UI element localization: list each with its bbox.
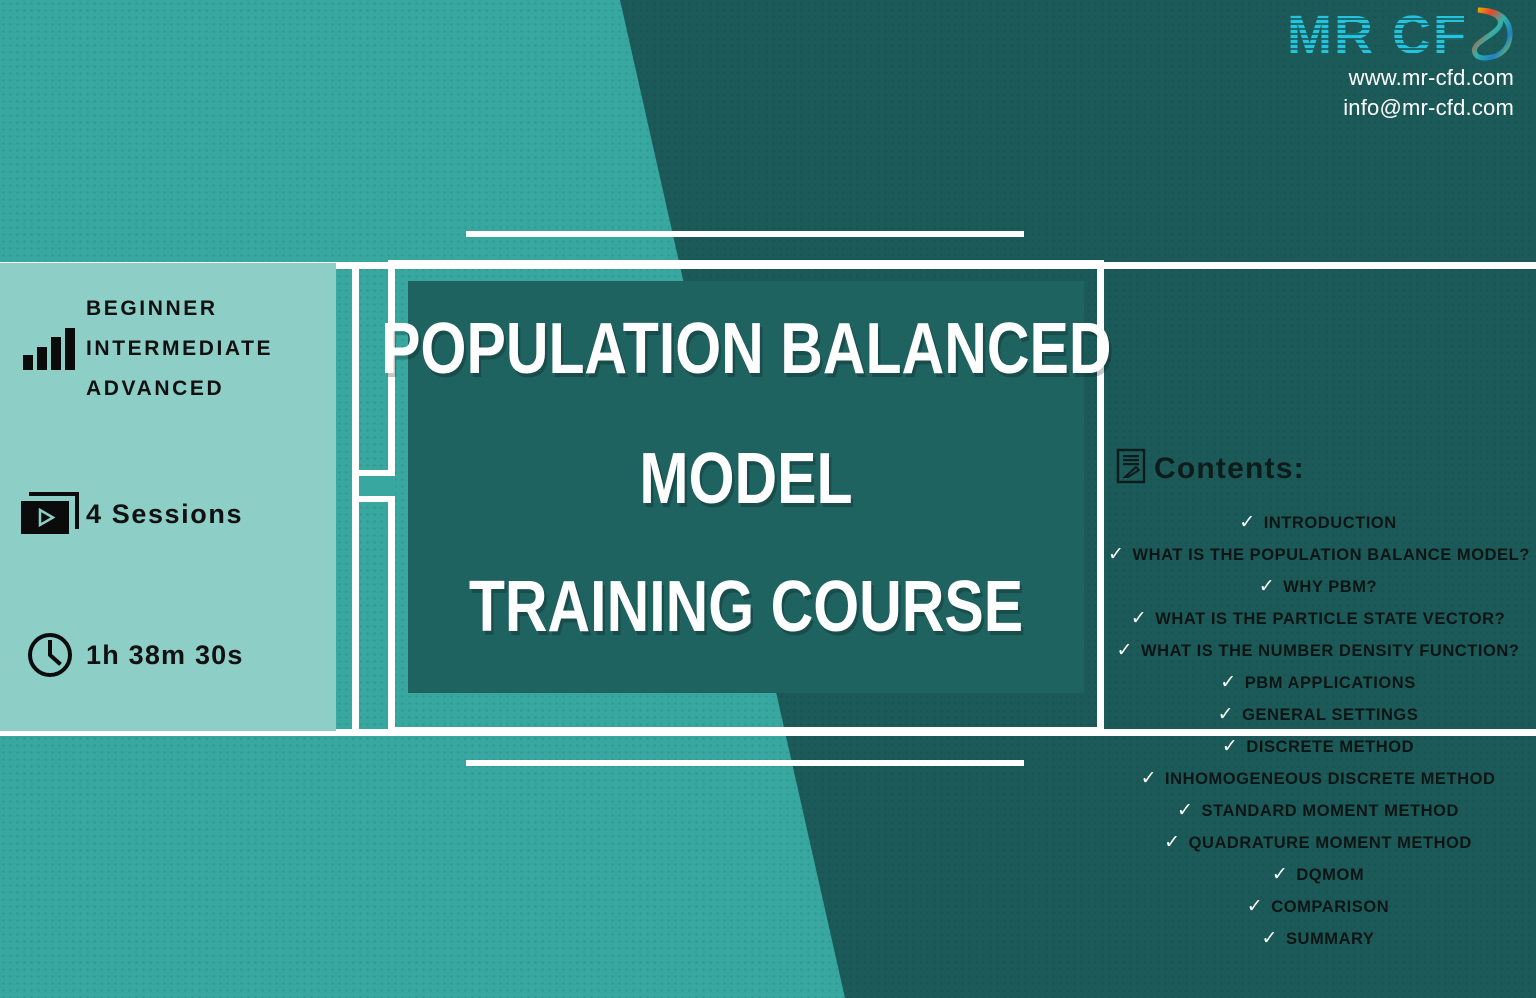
contents-list-item: ✓WHAT IS THE PARTICLE STATE VECTOR?	[1108, 603, 1528, 635]
course-info-panel: BEGINNER INTERMEDIATE ADVANCED 4 Session…	[0, 263, 336, 731]
decorative-rule-top-short	[466, 231, 1024, 237]
contents-list-item: ✓GENERAL SETTINGS	[1108, 699, 1528, 731]
brand-logo-text: MR CF	[1287, 8, 1468, 62]
brand-logo-block: MR CF www.mr-cfd.com info@mr-cfd.com	[1287, 4, 1514, 122]
contents-list-item: ✓WHY PBM?	[1108, 571, 1528, 603]
check-icon: ✓	[1131, 603, 1147, 635]
check-icon: ✓	[1247, 891, 1263, 923]
course-poster: BEGINNER INTERMEDIATE ADVANCED 4 Session…	[0, 0, 1536, 998]
contents-item-label: QUADRATURE MOMENT METHOD	[1189, 834, 1472, 852]
contents-list-item: ✓COMPARISON	[1108, 891, 1528, 923]
contents-item-label: COMPARISON	[1271, 898, 1389, 916]
course-title-box: POPULATION BALANCED MODEL TRAINING COURS…	[408, 281, 1084, 693]
sessions-label: 4 Sessions	[86, 499, 243, 530]
contents-item-label: WHY PBM?	[1283, 578, 1377, 596]
contents-list-item: ✓INHOMOGENEOUS DISCRETE METHOD	[1108, 763, 1528, 795]
contents-list-item: ✓INTRODUCTION	[1108, 507, 1528, 539]
brand-website: www.mr-cfd.com	[1287, 64, 1514, 92]
check-icon: ✓	[1262, 923, 1278, 955]
contents-heading-label: Contents:	[1154, 452, 1305, 486]
duration-label: 1h 38m 30s	[86, 640, 244, 671]
contents-list-item: ✓DQMOM	[1108, 859, 1528, 891]
panel-divider	[352, 263, 359, 731]
contents-item-label: PBM APPLICATIONS	[1245, 674, 1416, 692]
check-icon: ✓	[1239, 507, 1255, 539]
check-icon: ✓	[1222, 731, 1238, 763]
contents-item-label: DISCRETE METHOD	[1246, 738, 1414, 756]
decorative-rule-bottom-short	[466, 760, 1024, 766]
signal-bars-icon	[14, 327, 86, 371]
brand-logo-d-icon	[1470, 6, 1514, 62]
contents-item-label: GENERAL SETTINGS	[1242, 706, 1418, 724]
contents-list-item: ✓QUADRATURE MOMENT METHOD	[1108, 827, 1528, 859]
check-icon: ✓	[1108, 539, 1124, 571]
course-title-line-1: POPULATION BALANCED	[381, 307, 1111, 391]
contents-item-label: INHOMOGENEOUS DISCRETE METHOD	[1165, 770, 1495, 788]
brand-email: info@mr-cfd.com	[1287, 94, 1514, 122]
check-icon: ✓	[1259, 571, 1275, 603]
check-icon: ✓	[1141, 763, 1157, 795]
frame-notch-line-top	[359, 470, 395, 476]
check-icon: ✓	[1177, 795, 1193, 827]
contents-list-item: ✓WHAT IS THE POPULATION BALANCE MODEL?	[1108, 539, 1528, 571]
contents-list-item: ✓DISCRETE METHOD	[1108, 731, 1528, 763]
check-icon: ✓	[1164, 827, 1180, 859]
sessions-row: 4 Sessions	[14, 491, 334, 537]
level-intermediate: INTERMEDIATE	[86, 329, 273, 369]
contents-item-label: WHAT IS THE PARTICLE STATE VECTOR?	[1155, 610, 1505, 628]
contents-list-item: ✓WHAT IS THE NUMBER DENSITY FUNCTION?	[1108, 635, 1528, 667]
contents-heading: Contents:	[1116, 448, 1528, 489]
course-levels-labels: BEGINNER INTERMEDIATE ADVANCED	[86, 289, 273, 409]
frame-notch-line-bottom	[359, 496, 395, 502]
course-levels-row: BEGINNER INTERMEDIATE ADVANCED	[14, 289, 334, 409]
course-title-line-2: MODEL	[639, 437, 852, 521]
check-icon: ✓	[1117, 635, 1133, 667]
contents-item-label: DQMOM	[1296, 866, 1364, 884]
contents-list-item: ✓PBM APPLICATIONS	[1108, 667, 1528, 699]
contents-item-label: WHAT IS THE NUMBER DENSITY FUNCTION?	[1141, 642, 1520, 660]
video-playlist-icon	[14, 491, 86, 537]
contents-item-label: INTRODUCTION	[1264, 514, 1397, 532]
brand-logo-mark: MR CF	[1287, 4, 1514, 62]
check-icon: ✓	[1218, 699, 1234, 731]
contents-section: Contents: ✓INTRODUCTION✓WHAT IS THE POPU…	[1108, 448, 1528, 955]
contents-item-label: SUMMARY	[1286, 930, 1375, 948]
contents-list-item: ✓SUMMARY	[1108, 923, 1528, 955]
contents-list: ✓INTRODUCTION✓WHAT IS THE POPULATION BAL…	[1108, 507, 1528, 955]
frame-notch	[359, 476, 395, 496]
check-icon: ✓	[1220, 667, 1236, 699]
contents-item-label: STANDARD MOMENT METHOD	[1202, 802, 1459, 820]
level-advanced: ADVANCED	[86, 369, 273, 409]
document-pencil-icon	[1116, 448, 1146, 489]
clock-icon	[14, 631, 86, 679]
check-icon: ✓	[1272, 859, 1288, 891]
contents-item-label: WHAT IS THE POPULATION BALANCE MODEL?	[1132, 546, 1529, 564]
level-beginner: BEGINNER	[86, 289, 273, 329]
contents-list-item: ✓STANDARD MOMENT METHOD	[1108, 795, 1528, 827]
course-title-line-3: TRAINING COURSE	[469, 565, 1023, 649]
duration-row: 1h 38m 30s	[14, 631, 334, 679]
